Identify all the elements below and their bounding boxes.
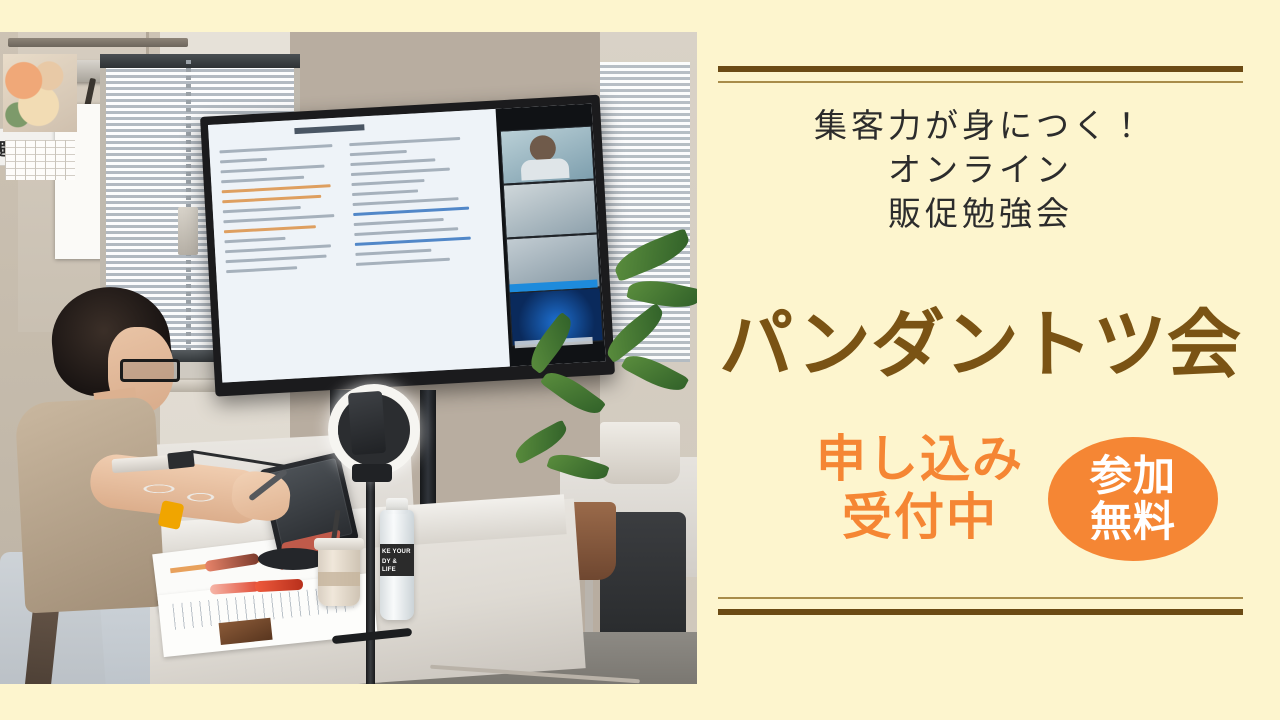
bottle-label-line1: KE YOUR — [382, 548, 412, 556]
cta-line-2: 受付中 — [795, 488, 1045, 546]
phone-clamp — [352, 464, 392, 482]
divider-bottom-thin — [718, 597, 1243, 599]
tv-slide-document — [208, 109, 510, 383]
blinds-clip — [178, 207, 198, 255]
flyer-canvas: 避難器具設置 — [0, 0, 1280, 720]
mounted-phone — [348, 391, 386, 455]
headline-line-3: 販促勉強会 — [718, 193, 1243, 237]
badge-line-1: 参加 — [1090, 453, 1176, 499]
calendar-photo — [3, 54, 77, 132]
participant-body — [520, 158, 569, 181]
cup-lid — [314, 538, 364, 550]
power-plug — [167, 451, 195, 470]
divider-top-thick — [718, 66, 1243, 72]
cta-text: 申し込み 受付中 — [795, 430, 1045, 546]
plant-pot-white — [600, 422, 680, 484]
blinds-headrail — [100, 54, 300, 68]
eyeglasses — [120, 359, 180, 382]
cup-sleeve — [318, 572, 360, 586]
tripod-pole — [366, 470, 375, 684]
paper-thumbnail — [219, 618, 273, 645]
tv-slide-column-right — [349, 137, 474, 273]
headline-line-1: 集客力が身につく！ — [718, 105, 1243, 149]
badge-line-2: 無料 — [1090, 499, 1176, 545]
calendar-date-grid — [5, 140, 75, 180]
headline-line-2: オンライン — [718, 149, 1243, 193]
participant-tile — [500, 126, 595, 185]
participant-tile — [503, 180, 598, 239]
free-participation-badge: 参加 無料 — [1048, 437, 1218, 561]
door-closer-rail — [8, 38, 188, 47]
event-title: パンダントツ会 — [700, 285, 1260, 392]
headline-block: 集客力が身につく！ オンライン 販促勉強会 — [718, 105, 1243, 237]
bottle-label-line2: DY & LIFE — [382, 558, 412, 574]
event-photo: 避難器具設置 — [0, 32, 697, 684]
cables — [120, 472, 250, 514]
divider-bottom-thick — [718, 609, 1243, 615]
cta-line-1: 申し込み — [795, 430, 1045, 488]
tv-slide-column-left — [219, 144, 344, 280]
tv-slide-title-bar — [294, 124, 364, 134]
water-bottle-label: KE YOUR DY & LIFE — [380, 544, 414, 576]
divider-top-thin — [718, 81, 1243, 83]
